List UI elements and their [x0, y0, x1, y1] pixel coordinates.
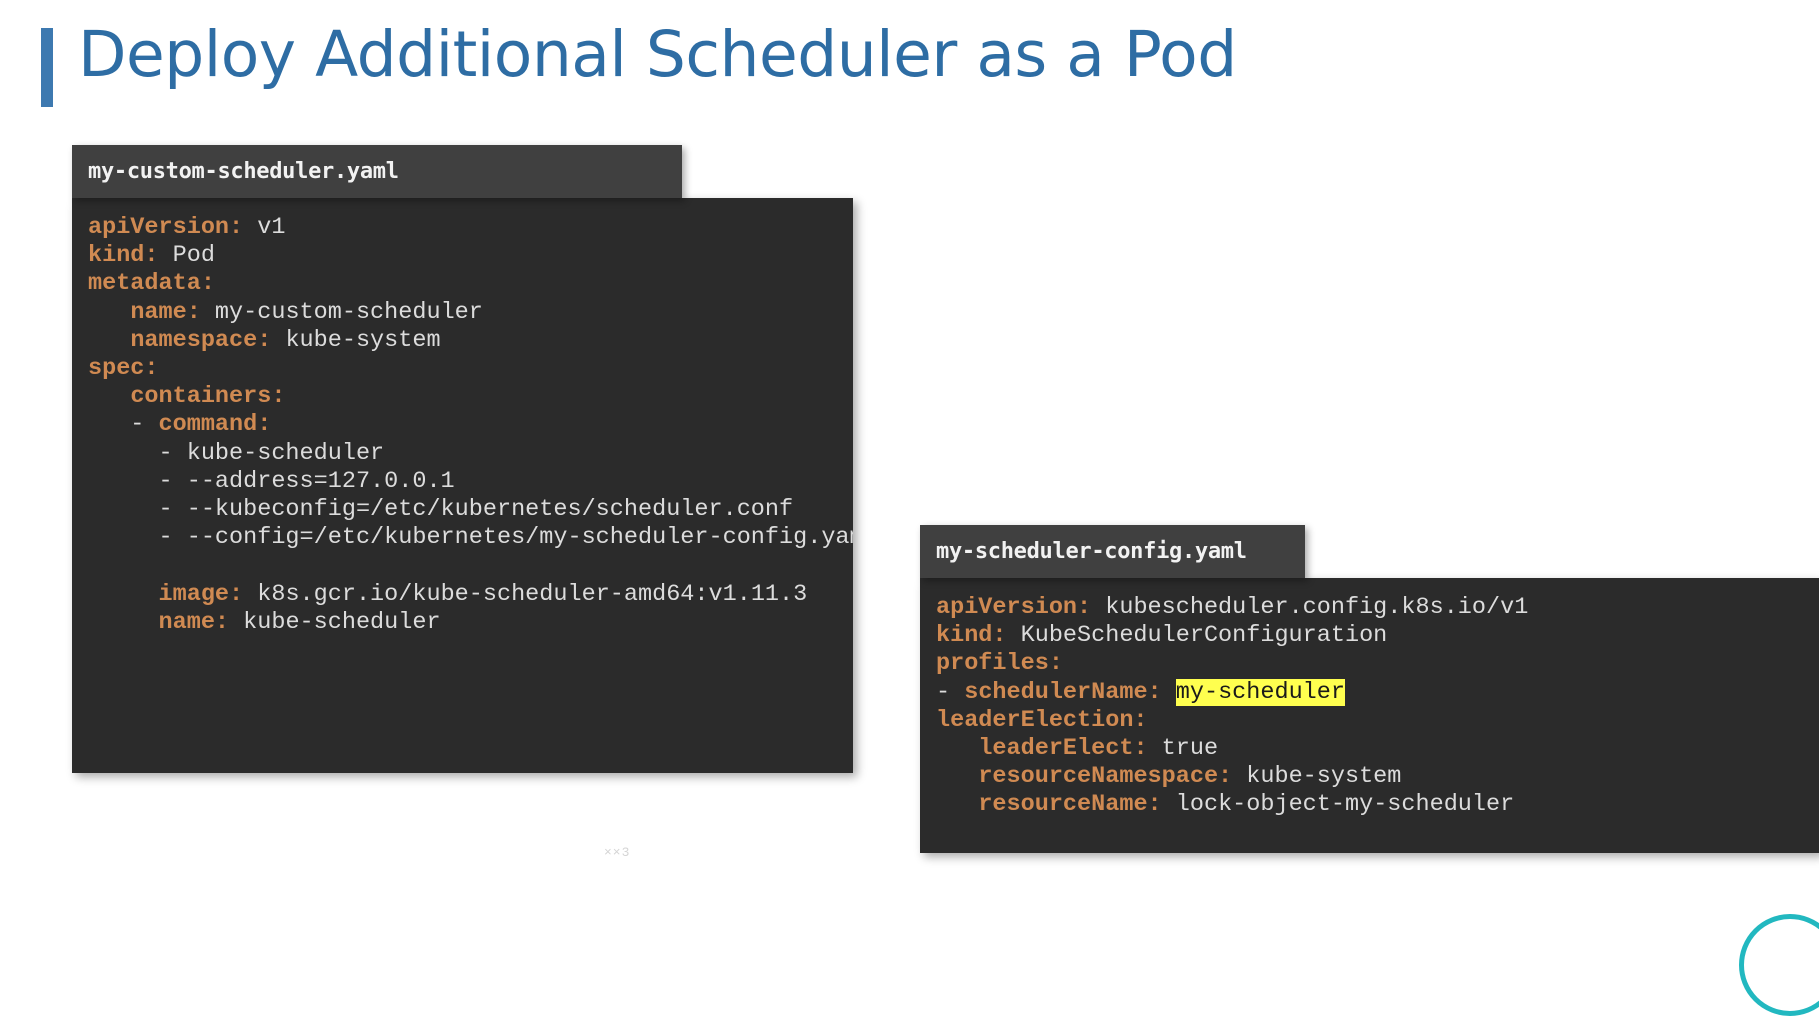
yaml-value: - --address=127.0.0.1: [88, 468, 455, 495]
yaml-value-highlighted: my-scheduler: [1176, 679, 1345, 706]
code-line: name: kube-scheduler: [88, 609, 853, 637]
code-line: metadata:: [88, 270, 853, 298]
yaml-value: [936, 763, 978, 790]
code-line: spec:: [88, 355, 853, 383]
code-line: - --kubeconfig=/etc/kubernetes/scheduler…: [88, 496, 853, 524]
yaml-key: metadata:: [88, 270, 215, 297]
yaml-value: - --kubeconfig=/etc/kubernetes/scheduler…: [88, 496, 793, 523]
yaml-key: containers:: [130, 383, 285, 410]
code-filename-header-scheduler-pod: my-custom-scheduler.yaml: [72, 145, 682, 198]
yaml-key: name:: [159, 609, 230, 636]
code-line: resourceName: lock-object-my-scheduler: [936, 791, 1819, 819]
yaml-value: [88, 299, 130, 326]
code-content-scheduler-pod: apiVersion: v1kind: Podmetadata: name: m…: [72, 198, 853, 653]
code-line: leaderElect: true: [936, 735, 1819, 763]
code-line: - kube-scheduler: [88, 440, 853, 468]
code-line: - --address=127.0.0.1: [88, 468, 853, 496]
yaml-key: spec:: [88, 355, 159, 382]
code-line: image: k8s.gcr.io/kube-scheduler-amd64:v…: [88, 581, 853, 609]
code-filename-header-scheduler-config: my-scheduler-config.yaml: [920, 525, 1305, 578]
code-line: apiVersion: v1: [88, 214, 853, 242]
code-line: - schedulerName: my-scheduler: [936, 679, 1819, 707]
yaml-value: -: [936, 679, 964, 706]
yaml-value: -: [88, 411, 159, 438]
title-accent-bar: [41, 28, 53, 107]
yaml-value: kube-system: [1232, 763, 1401, 790]
yaml-key: image:: [159, 581, 244, 608]
yaml-value: kubescheduler.config.k8s.io/v1: [1091, 594, 1528, 621]
yaml-value: [1162, 679, 1176, 706]
code-line: name: my-custom-scheduler: [88, 299, 853, 327]
code-line: resourceNamespace: kube-system: [936, 763, 1819, 791]
code-line: apiVersion: kubescheduler.config.k8s.io/…: [936, 594, 1819, 622]
yaml-value: [88, 581, 159, 608]
code-line: - --config=/etc/kubernetes/my-scheduler-…: [88, 524, 853, 552]
yaml-key: leaderElection:: [936, 707, 1148, 734]
code-card-scheduler-pod: my-custom-scheduler.yaml apiVersion: v1k…: [72, 145, 853, 773]
yaml-value: kube-scheduler: [229, 609, 441, 636]
yaml-value: KubeSchedulerConfiguration: [1007, 622, 1388, 649]
yaml-value: kube-system: [271, 327, 440, 354]
code-line: - command:: [88, 411, 853, 439]
code-card-scheduler-config: my-scheduler-config.yaml apiVersion: kub…: [920, 525, 1819, 853]
yaml-value: my-custom-scheduler: [201, 299, 483, 326]
yaml-key: schedulerName:: [964, 679, 1161, 706]
code-line: kind: KubeSchedulerConfiguration: [936, 622, 1819, 650]
code-line: namespace: kube-system: [88, 327, 853, 355]
yaml-value: - --config=/etc/kubernetes/my-scheduler-…: [88, 524, 853, 551]
code-line: profiles:: [936, 650, 1819, 678]
footer-page-mark: ××3: [604, 845, 630, 860]
yaml-key: profiles:: [936, 650, 1063, 677]
yaml-value: k8s.gcr.io/kube-scheduler-amd64:v1.11.3: [243, 581, 807, 608]
yaml-value: [936, 735, 978, 762]
yaml-value: v1: [243, 214, 285, 241]
yaml-value: - kube-scheduler: [88, 440, 384, 467]
code-line: leaderElection:: [936, 707, 1819, 735]
code-content-scheduler-config: apiVersion: kubescheduler.config.k8s.io/…: [920, 578, 1819, 836]
yaml-key: apiVersion:: [88, 214, 243, 241]
yaml-key: namespace:: [130, 327, 271, 354]
code-body-scheduler-pod: apiVersion: v1kind: Podmetadata: name: m…: [72, 198, 853, 773]
yaml-value: true: [1148, 735, 1219, 762]
code-line: kind: Pod: [88, 242, 853, 270]
yaml-value: [88, 609, 159, 636]
yaml-key: resourceNamespace:: [978, 763, 1232, 790]
code-body-scheduler-config: apiVersion: kubescheduler.config.k8s.io/…: [920, 578, 1819, 853]
yaml-value: Pod: [159, 242, 215, 269]
yaml-key: name:: [130, 299, 201, 326]
yaml-key: command:: [159, 411, 272, 438]
yaml-key: kind:: [88, 242, 159, 269]
yaml-key: apiVersion:: [936, 594, 1091, 621]
yaml-value: [88, 327, 130, 354]
yaml-key: resourceName:: [978, 791, 1161, 818]
page-title: Deploy Additional Scheduler as a Pod: [78, 23, 1237, 86]
yaml-key: leaderElect:: [978, 735, 1147, 762]
yaml-value: [936, 791, 978, 818]
yaml-value: [88, 383, 130, 410]
slide-title-area: Deploy Additional Scheduler as a Pod: [0, 0, 1819, 130]
code-line: containers:: [88, 383, 853, 411]
yaml-key: kind:: [936, 622, 1007, 649]
corner-accent-circle-icon: [1739, 914, 1819, 1016]
yaml-value: lock-object-my-scheduler: [1162, 791, 1515, 818]
code-line: [88, 552, 853, 580]
